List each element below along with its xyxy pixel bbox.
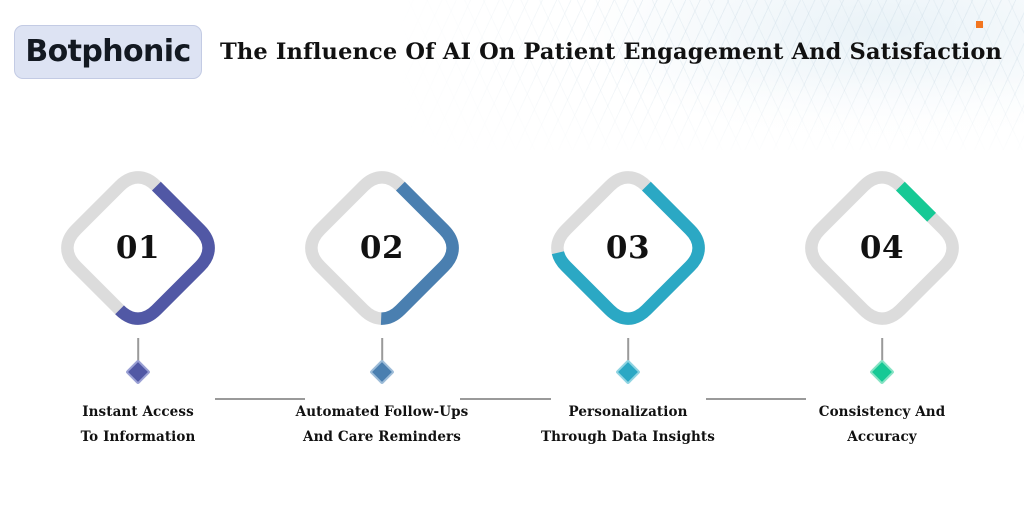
- header: Botphonic The Influence Of AI On Patient…: [14, 22, 1004, 82]
- step-caption-line1: Personalization: [528, 400, 728, 425]
- step-caption-line2: Accuracy: [782, 425, 982, 450]
- step-caption-line2: Through Data Insights: [528, 425, 728, 450]
- step-diamond-03[interactable]: 03: [538, 158, 718, 338]
- page-title: The Influence Of AI On Patient Engagemen…: [220, 39, 1002, 65]
- step-marker-diamond-02[interactable]: [369, 359, 394, 384]
- step-caption-line2: And Care Reminders: [282, 425, 482, 450]
- step-marker-diamond-04[interactable]: [869, 359, 894, 384]
- logo-badge[interactable]: Botphonic: [14, 25, 202, 79]
- logo-text: Botphonic: [25, 37, 190, 67]
- step-caption-02: Automated Follow-UpsAnd Care Reminders: [282, 400, 482, 450]
- step-01[interactable]: 01Instant AccessTo Information: [38, 150, 238, 470]
- step-02[interactable]: 02Automated Follow-UpsAnd Care Reminders: [282, 150, 482, 470]
- step-marker-diamond-03[interactable]: [615, 359, 640, 384]
- step-caption-line1: Instant Access: [38, 400, 238, 425]
- step-caption-03: PersonalizationThrough Data Insights: [528, 400, 728, 450]
- step-caption-line2: To Information: [38, 425, 238, 450]
- orange-square-dot-icon: [976, 21, 983, 28]
- step-caption-04: Consistency AndAccuracy: [782, 400, 982, 450]
- step-diamond-01[interactable]: 01: [48, 158, 228, 338]
- step-diamond-02[interactable]: 02: [292, 158, 472, 338]
- step-diamond-04[interactable]: 04: [792, 158, 972, 338]
- steps-row: 01Instant AccessTo Information02Automate…: [0, 150, 1024, 470]
- step-caption-line1: Consistency And: [782, 400, 982, 425]
- step-caption-01: Instant AccessTo Information: [38, 400, 238, 450]
- step-03[interactable]: 03PersonalizationThrough Data Insights: [528, 150, 728, 470]
- step-caption-line1: Automated Follow-Ups: [282, 400, 482, 425]
- step-04[interactable]: 04Consistency AndAccuracy: [782, 150, 982, 470]
- step-marker-diamond-01[interactable]: [125, 359, 150, 384]
